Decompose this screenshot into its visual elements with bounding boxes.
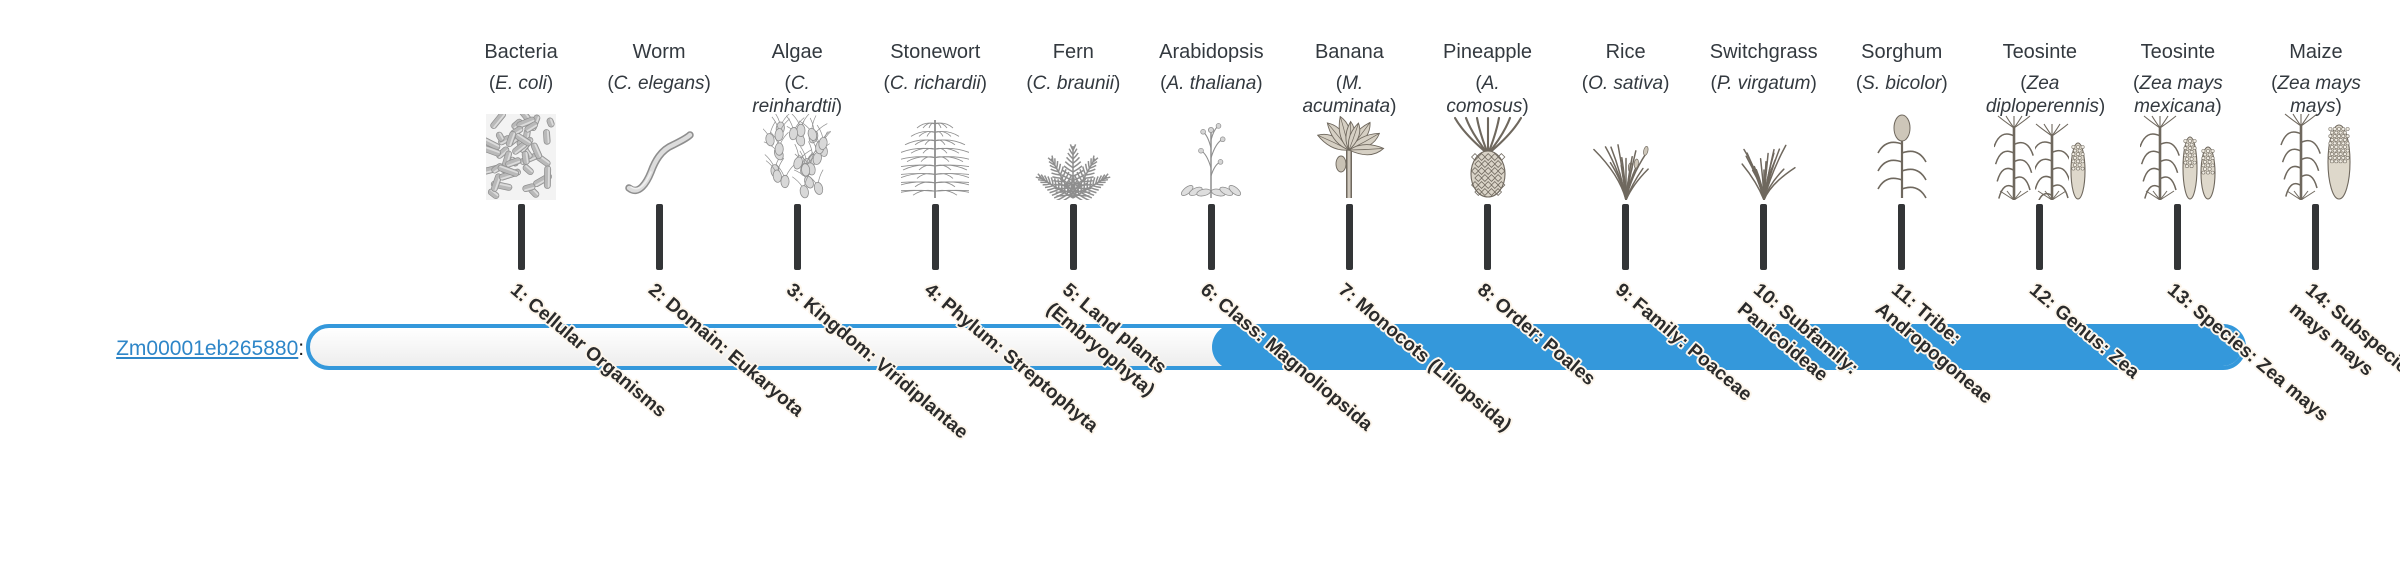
species-common-name: Stonewort	[881, 40, 989, 64]
species-column: Maize(Zea mays mays)14: Subspecies: Zea …	[2262, 0, 2370, 580]
stratum-tick-mark	[656, 204, 663, 270]
species-column: Worm(C. elegans)2: Domain: Eukaryota	[605, 0, 713, 580]
species-latin-name: (C. elegans)	[605, 72, 713, 95]
species-latin-text: C. elegans	[614, 73, 705, 94]
taxonomy-number: 6:	[1197, 280, 1223, 307]
species-column: Pineapple(A. comosus)8: Order: Poales	[1434, 0, 1542, 580]
stratum-tick-mark	[1898, 204, 1905, 270]
species-latin-text: Zea mays mexicana	[2134, 73, 2223, 117]
stratum-tick-mark	[1760, 204, 1767, 270]
species-latin-text: Zea diploperennis	[1986, 73, 2099, 117]
teosinte-mexicana-icon	[2124, 112, 2232, 200]
stratum-tick-mark	[1484, 204, 1491, 270]
taxonomy-number: 13:	[2163, 280, 2198, 314]
species-column: Arabidopsis(A. thaliana)6: Class: Magnol…	[1157, 0, 1265, 580]
species-common-name: Rice	[1572, 40, 1680, 64]
taxonomy-number: 10:	[1749, 280, 1784, 314]
taxonomy-number: 11:	[1887, 280, 1921, 313]
banana-plant-icon	[1295, 112, 1403, 200]
species-common-name: Bacteria	[467, 40, 575, 64]
switchgrass-icon	[1710, 112, 1818, 200]
stratum-tick-mark	[2312, 204, 2319, 270]
species-column: Algae(C. reinhardtii)3: Kingdom: Viridip…	[743, 0, 851, 580]
taxonomy-number: 4:	[920, 280, 946, 307]
taxonomy-rank: Kingdom:	[799, 294, 880, 367]
species-latin-name: (C. richardii)	[881, 72, 989, 95]
species-latin-text: P. virgatum	[1717, 73, 1811, 94]
taxonomy-name: Zea mays mays	[2285, 299, 2400, 413]
taxonomy-number: 9:	[1611, 280, 1637, 307]
species-common-name: Sorghum	[1848, 40, 1956, 64]
stratum-tick-mark	[2036, 204, 2043, 270]
species-column: Teosinte(Zea diploperennis)12: Genus: Ze…	[1986, 0, 2094, 580]
maize-icon	[2262, 112, 2370, 200]
species-common-name: Fern	[1019, 40, 1127, 64]
stratum-tick-mark	[2174, 204, 2181, 270]
taxonomy-number: 7:	[1335, 280, 1361, 307]
pineapple-icon	[1434, 112, 1542, 200]
species-column: Fern(C. braunii)5: Land plants (Embryoph…	[1019, 0, 1127, 580]
species-common-name: Arabidopsis	[1157, 40, 1265, 64]
taxonomy-rank: Family:	[1628, 294, 1692, 353]
phylostratum-figure: Zm00001eb265880: Phylostratum 6 Bacteria…	[0, 0, 2400, 580]
species-column: Banana(M. acuminata)7: Monocots (Liliops…	[1295, 0, 1403, 580]
species-latin-text: C. richardii	[890, 73, 981, 94]
taxonomy-number: 14:	[2301, 280, 2336, 314]
stratum-tick-mark	[518, 204, 525, 270]
taxonomy-rank: Domain:	[661, 294, 733, 359]
species-latin-text: A. thaliana	[1166, 73, 1256, 94]
species-column: Teosinte(Zea mays mexicana)13: Species: …	[2124, 0, 2232, 580]
species-latin-name: (O. sativa)	[1572, 72, 1680, 95]
species-column: Rice(O. sativa)9: Family: Poaceae	[1572, 0, 1680, 580]
stratum-tick-mark	[1208, 204, 1215, 270]
stratum-tick-mark	[1622, 204, 1629, 270]
species-latin-text: E. coli	[495, 73, 547, 94]
taxonomy-rank: Order:	[1490, 294, 1548, 347]
stratum-tick-mark	[1070, 204, 1077, 270]
taxonomy-name: Andropogoneae	[1871, 299, 1996, 409]
taxonomy-name: (Embryophyta)	[1042, 299, 1158, 401]
teosinte-diplo-icon	[1986, 112, 2094, 200]
stratum-tick-mark	[794, 204, 801, 270]
arabidopsis-icon	[1157, 112, 1265, 200]
species-common-name: Worm	[605, 40, 713, 64]
taxonomy-rank-label: 14: Subspecies: Zea mays mays	[2284, 278, 2400, 464]
stratum-tick-mark	[1346, 204, 1353, 270]
bacteria-icon	[467, 112, 575, 200]
species-latin-text: C. braunii	[1033, 73, 1114, 94]
nematode-worm-icon	[605, 112, 713, 200]
taxonomy-rank: Species:	[2188, 301, 2261, 367]
green-algae-icon	[743, 112, 851, 200]
species-common-name: Banana	[1295, 40, 1403, 64]
taxonomy-rank: Cellular	[523, 294, 590, 355]
stratum-tick-mark	[932, 204, 939, 270]
species-column: Switchgrass(P. virgatum)10: Subfamily: P…	[1710, 0, 1818, 580]
stonewort-icon	[881, 112, 989, 200]
species-latin-name: (E. coli)	[467, 72, 575, 95]
taxonomy-rank: Phylum:	[937, 294, 1008, 358]
species-latin-name: (P. virgatum)	[1710, 72, 1818, 95]
species-latin-text: S. bicolor	[1862, 73, 1941, 94]
species-common-name: Pineapple	[1434, 40, 1542, 64]
gene-id-link[interactable]: Zm00001eb265880	[116, 337, 298, 360]
species-column: Bacteria(E. coli)1: Cellular Organisms	[467, 0, 575, 580]
taxonomy-number: 5:	[1059, 280, 1085, 307]
taxonomy-rank: Genus:	[2050, 301, 2114, 359]
taxonomy-number: 1:	[506, 280, 532, 307]
species-common-name: Switchgrass	[1710, 40, 1818, 64]
taxonomy-rank: Tribe:	[1911, 300, 1964, 349]
fern-icon	[1019, 112, 1127, 200]
species-column: Sorghum(S. bicolor)11: Tribe: Andropogon…	[1848, 0, 1956, 580]
species-column: Stonewort(C. richardii)4: Phylum: Strept…	[881, 0, 989, 580]
species-latin-name: (S. bicolor)	[1848, 72, 1956, 95]
taxonomy-number: 2:	[644, 280, 670, 307]
species-latin-name: (C. braunii)	[1019, 72, 1127, 95]
taxonomy-name: Panicoideae	[1733, 299, 1831, 386]
species-common-name: Maize	[2262, 40, 2370, 64]
species-latin-text: Zea mays mays	[2277, 73, 2360, 117]
taxonomy-number: 12:	[2025, 280, 2060, 314]
taxonomy-rank: Class:	[1214, 294, 1271, 347]
species-latin-text: O. sativa	[1588, 73, 1663, 94]
species-common-name: Algae	[743, 40, 851, 64]
species-common-name: Teosinte	[1986, 40, 2094, 64]
species-latin-text: C. reinhardtii	[752, 73, 835, 117]
sorghum-icon	[1848, 112, 1956, 200]
rice-plant-icon	[1572, 112, 1680, 200]
taxonomy-rank: Monocots	[1352, 294, 1434, 368]
taxonomy-rank: Subspecies:	[2326, 301, 2400, 389]
species-common-name: Teosinte	[2124, 40, 2232, 64]
species-latin-name: (A. thaliana)	[1157, 72, 1265, 95]
taxonomy-number: 8:	[1473, 280, 1499, 307]
taxonomy-number: 3:	[782, 280, 808, 307]
species-columns: Bacteria(E. coli)1: Cellular OrganismsWo…	[452, 0, 2385, 580]
